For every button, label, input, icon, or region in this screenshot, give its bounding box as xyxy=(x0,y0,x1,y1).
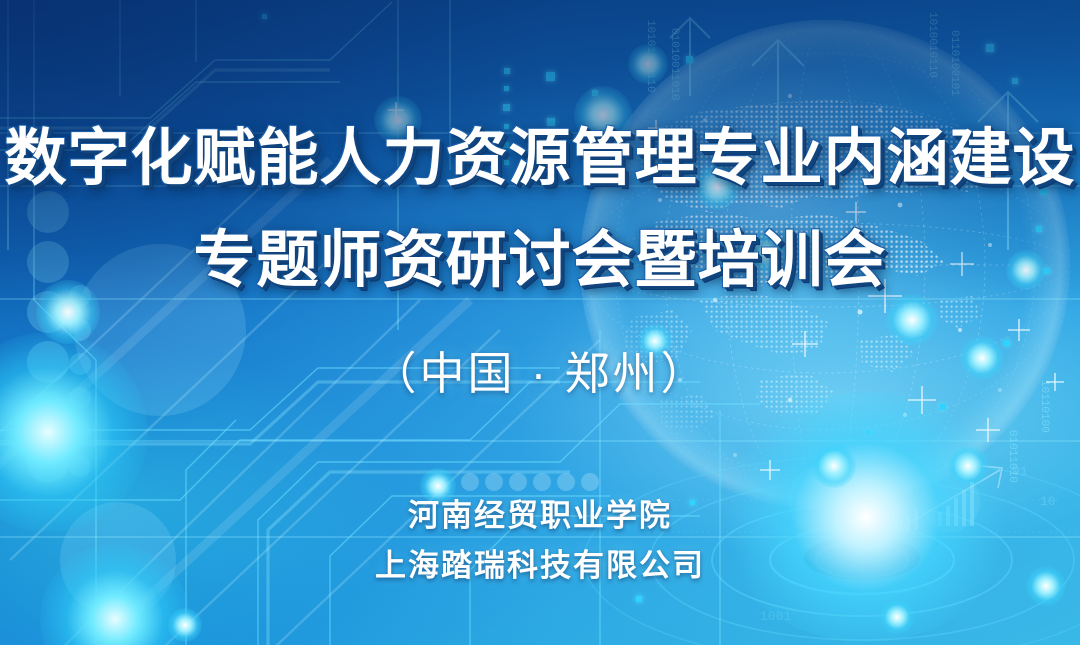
poster-title-line-1: 数字化赋能人力资源管理专业内涵建设 xyxy=(0,124,1080,194)
organizer-line-2: 上海踏瑞科技有限公司 xyxy=(0,545,1080,587)
poster-location: （中国 · 郑州） xyxy=(0,345,1080,403)
organizer-line-1: 河南经贸职业学院 xyxy=(0,495,1080,537)
poster-text-content: 数字化赋能人力资源管理专业内涵建设 专题师资研讨会暨培训会 （中国 · 郑州） … xyxy=(0,0,1080,645)
poster-title-line-2: 专题师资研讨会暨培训会 xyxy=(0,226,1080,296)
poster-canvas: 10101010110 01010011010 1010010110 01101… xyxy=(0,0,1080,645)
